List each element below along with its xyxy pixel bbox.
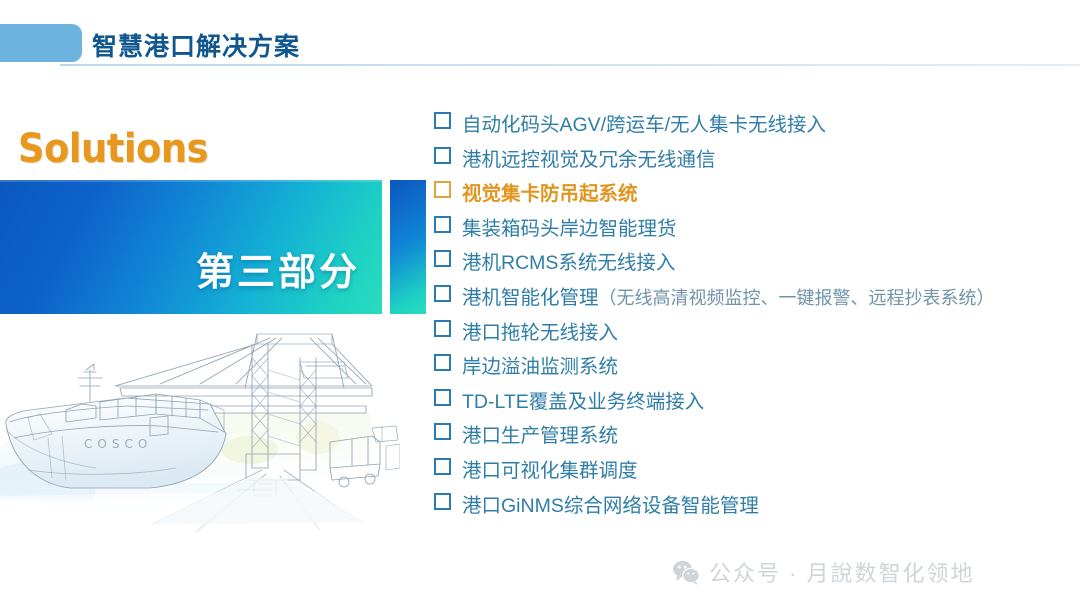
header-tab-accent — [0, 24, 82, 62]
bullet-item[interactable]: 集装箱码头岸边智能理货 — [434, 212, 1064, 247]
bullet-item[interactable]: 港口拖轮无线接入 — [434, 316, 1064, 351]
bullet-item-label: 港口拖轮无线接入 — [462, 316, 618, 345]
bullet-item-label: 港机RCMS系统无线接入 — [462, 246, 675, 275]
bullet-square-icon — [434, 320, 451, 337]
bullet-item[interactable]: 港口生产管理系统 — [434, 419, 1064, 454]
bullet-square-icon — [434, 216, 451, 233]
wechat-icon — [672, 559, 700, 585]
bullet-item-label: 自动化码头AGV/跨运车/无人集卡无线接入 — [462, 108, 826, 137]
solutions-bullet-list: 自动化码头AGV/跨运车/无人集卡无线接入港机远控视觉及冗余无线通信视觉集卡防吊… — [434, 108, 1064, 523]
bullet-item-label: 集装箱码头岸边智能理货 — [462, 212, 677, 241]
header-divider — [60, 64, 1080, 66]
bullet-square-icon — [434, 354, 451, 371]
bullet-square-icon — [434, 389, 451, 406]
port-container-ship-sketch-icon: COSCO — [0, 318, 400, 558]
bullet-item-label: TD-LTE覆盖及业务终端接入 — [462, 385, 704, 414]
bullet-item[interactable]: 港口GiNMS综合网络设备智能管理 — [434, 489, 1064, 524]
bullet-item-label: 港口生产管理系统 — [462, 419, 618, 448]
bullet-square-icon — [434, 181, 451, 198]
solutions-heading: Solutions — [18, 126, 208, 172]
section-banner-label: 第三部分 — [196, 241, 360, 296]
ship-name-text: COSCO — [84, 437, 152, 451]
bullet-square-icon — [434, 423, 451, 440]
bullet-item-label: 视觉集卡防吊起系统 — [462, 177, 638, 206]
port-illustration: COSCO — [0, 318, 400, 558]
bullet-item[interactable]: 自动化码头AGV/跨运车/无人集卡无线接入 — [434, 108, 1064, 143]
bullet-item[interactable]: 港机远控视觉及冗余无线通信 — [434, 143, 1064, 178]
bullet-item[interactable]: 岸边溢油监测系统 — [434, 350, 1064, 385]
bullet-item-label: 港机远控视觉及冗余无线通信 — [462, 143, 716, 172]
page-header: 智慧港口解决方案 — [0, 0, 1080, 72]
bullet-item[interactable]: 港口可视化集群调度 — [434, 454, 1064, 489]
bullet-square-icon — [434, 285, 451, 302]
watermark-text: 公众号 · 月說数智化领地 — [709, 556, 975, 588]
bullet-item-label: 港机智能化管理（无线高清视频监控、一键报警、远程抄表系统） — [462, 281, 995, 310]
bullet-item[interactable]: 视觉集卡防吊起系统 — [434, 177, 1064, 212]
bullet-square-icon — [434, 250, 451, 267]
bullet-item[interactable]: TD-LTE覆盖及业务终端接入 — [434, 385, 1064, 420]
section-banner: 第三部分 — [0, 180, 382, 314]
bullet-item[interactable]: 港机RCMS系统无线接入 — [434, 246, 1064, 281]
bullet-item-label: 港口可视化集群调度 — [462, 454, 638, 483]
bullet-square-icon — [434, 493, 451, 510]
bullet-square-icon — [434, 112, 451, 129]
bullet-item-label: 港口GiNMS综合网络设备智能管理 — [462, 489, 759, 518]
watermark: 公众号 · 月說数智化领地 — [672, 556, 975, 588]
page-title: 智慧港口解决方案 — [92, 27, 300, 63]
bullet-item[interactable]: 港机智能化管理（无线高清视频监控、一键报警、远程抄表系统） — [434, 281, 1064, 316]
bullet-square-icon — [434, 458, 451, 475]
section-banner-accent-strip — [390, 180, 426, 314]
bullet-item-label: 岸边溢油监测系统 — [462, 350, 618, 379]
bullet-square-icon — [434, 147, 451, 164]
